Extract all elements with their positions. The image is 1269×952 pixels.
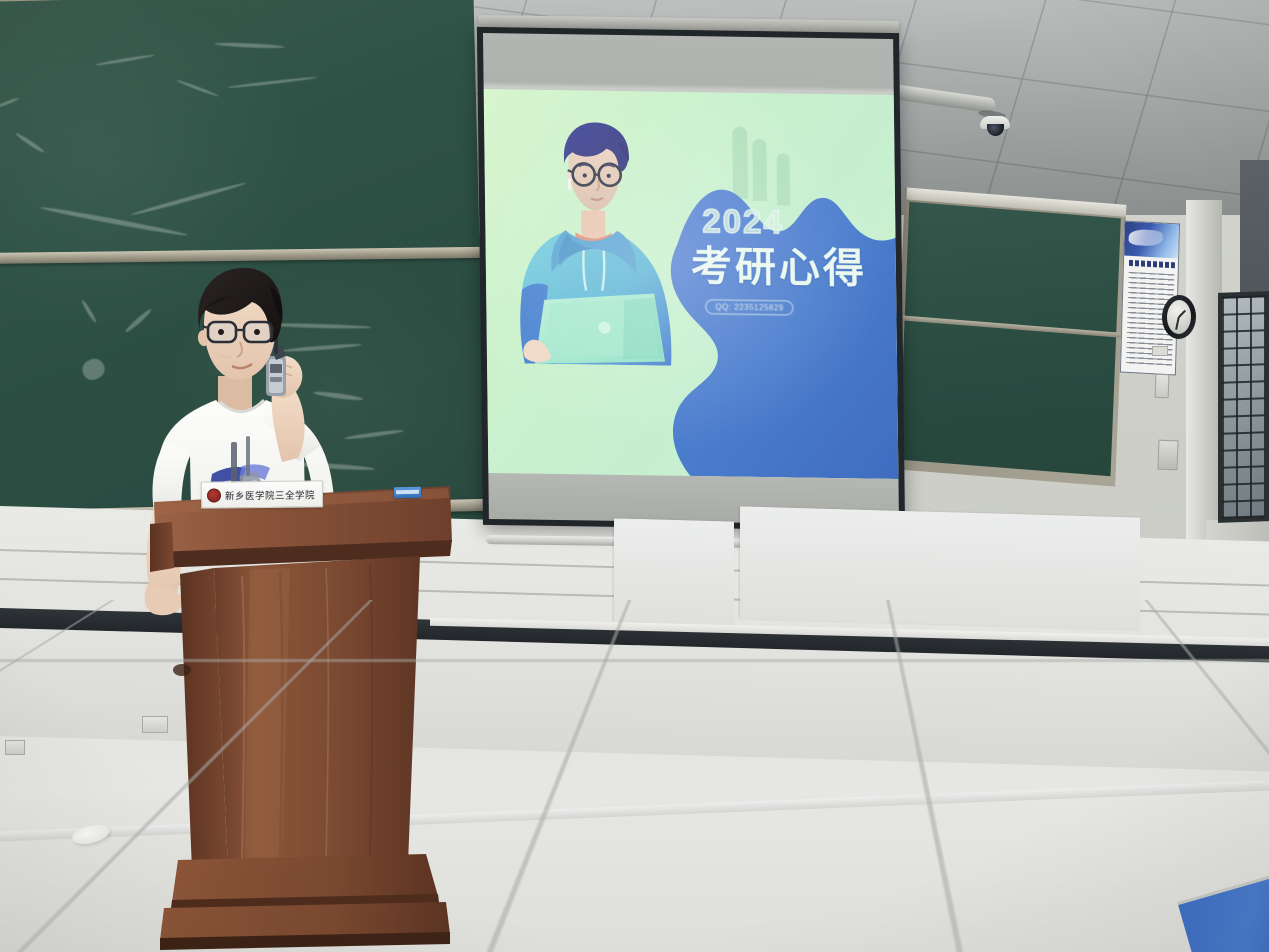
wall-panel-right [740, 506, 1140, 629]
lectern-institution-sign: 新乡医学院三全学院 [201, 480, 323, 508]
wall-clock [1161, 294, 1197, 339]
classroom-photo-scene: 2024 考研心得 QQ: 2235125829 [0, 0, 1269, 952]
slide-contact-pill: QQ: 2235125829 [705, 299, 794, 315]
ceiling-dome-camera-icon [980, 116, 1010, 138]
wall-access-panel[interactable] [1157, 440, 1178, 471]
window-grille [1218, 291, 1269, 523]
wall-marker-plate [1152, 346, 1168, 356]
poster-title-block [1129, 260, 1175, 268]
right-chalkboard-surface [899, 202, 1121, 476]
screen-surface: 2024 考研心得 QQ: 2235125829 [483, 33, 899, 525]
camera-lens [987, 124, 1004, 136]
projection-screen: 2024 考研心得 QQ: 2235125829 [477, 15, 907, 542]
grille-bars [1222, 295, 1265, 519]
wall-outlet-far-left[interactable] [5, 740, 25, 755]
slide-year: 2024 [702, 204, 880, 240]
chalk-box[interactable] [394, 487, 421, 498]
slide-text-block: 2024 考研心得 QQ: 2235125829 [690, 204, 881, 317]
institution-crest-icon [207, 488, 221, 502]
student-with-laptop-illustration [502, 113, 685, 366]
right-chalkboard [894, 187, 1127, 486]
poster-header-banner [1124, 222, 1179, 259]
slide-title: 考研心得 [691, 243, 882, 293]
wooden-lectern [150, 476, 470, 952]
screen-frame: 2024 考研心得 QQ: 2235125829 [477, 27, 905, 531]
projected-slide: 2024 考研心得 QQ: 2235125829 [484, 89, 899, 479]
wall-switch-plate[interactable] [1155, 374, 1170, 398]
lectern-sign-text: 新乡医学院三全学院 [225, 487, 315, 502]
wall-pillar-panel [614, 518, 734, 625]
